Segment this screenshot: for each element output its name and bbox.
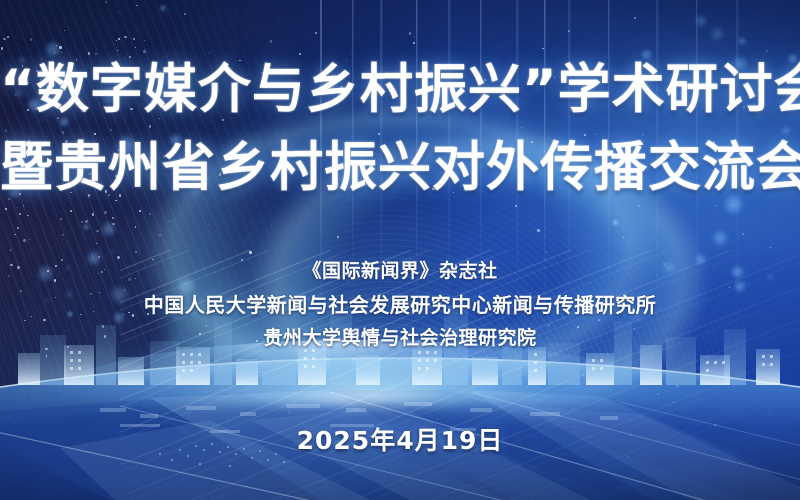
- conference-title-line-1: “数字媒介与乡村振兴”学术研讨会: [0, 63, 800, 116]
- organizer-line-2: 中国人民大学新闻与社会发展研究中心新闻与传播研究所: [0, 295, 800, 315]
- organizer-line-3: 贵州大学舆情与社会治理研究院: [0, 329, 800, 348]
- organizer-line-1: 《国际新闻界》杂志社: [0, 262, 800, 281]
- banner-content: “数字媒介与乡村振兴”学术研讨会 暨贵州省乡村振兴对外传播交流会 《国际新闻界》…: [0, 0, 800, 500]
- conference-title-line-2: 暨贵州省乡村振兴对外传播交流会: [0, 141, 800, 194]
- conference-banner: “数字媒介与乡村振兴”学术研讨会 暨贵州省乡村振兴对外传播交流会 《国际新闻界》…: [0, 0, 800, 500]
- event-date: 2025年4月19日: [0, 421, 800, 457]
